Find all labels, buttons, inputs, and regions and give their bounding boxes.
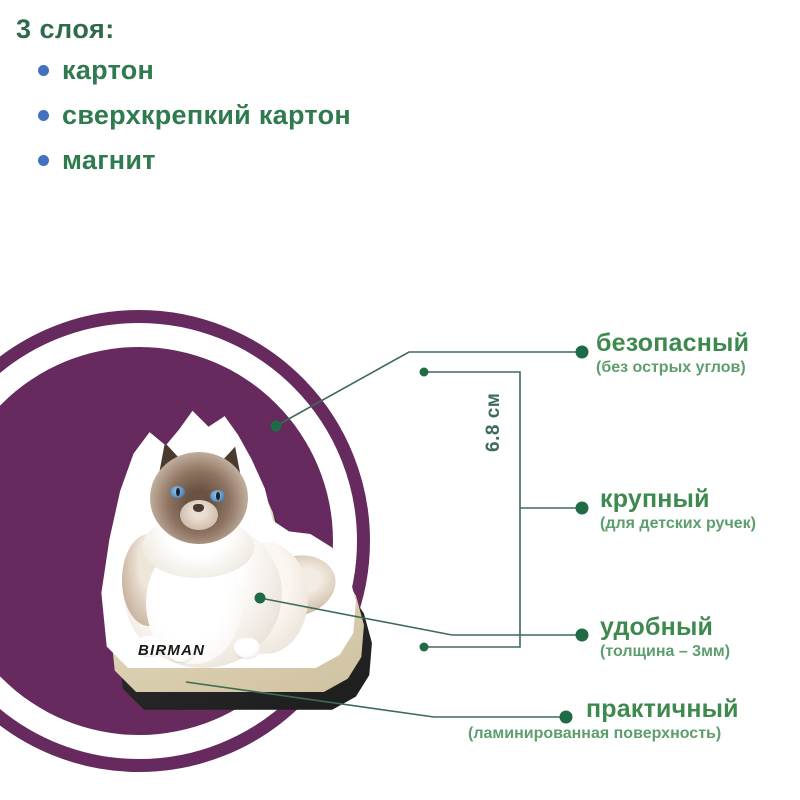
infographic-root: 3 слоя: картон сверхкрепкий картон магни… — [0, 0, 800, 800]
bullet-dot-icon — [38, 65, 49, 76]
leader-dot-large — [576, 502, 589, 515]
magnet-layer-top-card: BIRMAN — [96, 400, 364, 668]
bullet-dot-icon — [38, 110, 49, 121]
list-item: сверхкрепкий картон — [38, 102, 536, 129]
leader-dot-handy — [576, 629, 589, 642]
callout-subtitle: (без острых углов) — [596, 359, 749, 377]
callout-subtitle: (для детских ручек) — [600, 515, 756, 533]
layers-legend: 3 слоя: картон сверхкрепкий картон магни… — [16, 16, 536, 192]
callout-subtitle: (толщина – 3мм) — [600, 643, 730, 661]
product-magnet-stack: BIRMAN — [96, 366, 396, 710]
cat-pupil-left — [176, 488, 180, 496]
layer-label: сверхкрепкий картон — [62, 102, 351, 129]
callout-title: удобный — [600, 614, 730, 640]
callout-large: крупный (для детских ручек) — [600, 486, 756, 533]
bullet-dot-icon — [38, 155, 49, 166]
callout-practical: практичный (ламинированная поверхность) — [586, 696, 739, 743]
cat-nose — [193, 504, 204, 512]
list-item: магнит — [38, 147, 536, 174]
cat-photo — [106, 438, 326, 668]
layer-label: картон — [62, 57, 154, 84]
list-item: картон — [38, 57, 536, 84]
layer-label: магнит — [62, 147, 156, 174]
cat-head — [150, 452, 248, 544]
leader-dot-safe — [576, 346, 589, 359]
dimension-dot-bottom — [420, 643, 429, 652]
callout-title: безопасный — [596, 330, 749, 356]
cat-pupil-right — [216, 492, 220, 500]
callout-handy: удобный (толщина – 3мм) — [600, 614, 730, 661]
page-title: 3 слоя: — [16, 16, 536, 43]
callout-title: практичный — [586, 696, 739, 722]
callout-title: крупный — [600, 486, 756, 512]
cat-paw — [234, 638, 260, 658]
dimension-bracket — [424, 372, 520, 647]
dimension-label: 6.8 см — [483, 393, 505, 452]
callout-subtitle: (ламинированная поверхность) — [468, 725, 739, 743]
dimension-dot-top — [420, 368, 429, 377]
callout-safe: безопасный (без острых углов) — [596, 330, 749, 377]
leader-dot-practical — [560, 711, 573, 724]
breed-name-label: BIRMAN — [138, 642, 205, 659]
